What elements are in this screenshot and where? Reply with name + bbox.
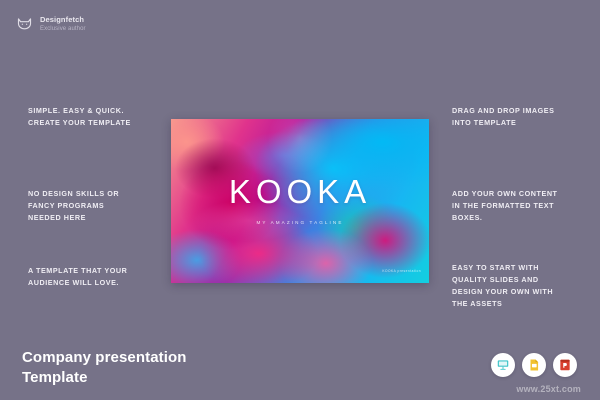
feature-drag-and-drop: DRAG AND DROP IMAGES INTO TEMPLATE: [452, 105, 554, 129]
watermark: www.25xt.com: [516, 384, 581, 394]
slide-preview[interactable]: KOOKA MY AMAZING TAGLINE KOOKA presentat…: [171, 119, 429, 283]
slide-canvas: KOOKA MY AMAZING TAGLINE KOOKA presentat…: [171, 119, 429, 283]
format-badge-powerpoint[interactable]: [553, 353, 577, 377]
slide-subtitle: MY AMAZING TAGLINE: [171, 220, 429, 225]
brand-subtitle: Exclusive author: [40, 26, 86, 32]
format-badge-google-slides[interactable]: [522, 353, 546, 377]
cat-face-icon: [16, 15, 33, 32]
slide-corner-note: KOOKA presentation: [382, 269, 421, 273]
format-badges: [491, 353, 577, 377]
brand-badge[interactable]: Designfetch Exclusive author: [16, 15, 86, 32]
powerpoint-icon: [558, 358, 572, 372]
feature-no-design-skills: NO DESIGN SKILLS OR FANCY PROGRAMS NEEDE…: [28, 188, 119, 224]
format-badge-keynote[interactable]: [491, 353, 515, 377]
feature-add-your-content: ADD YOUR OWN CONTENT IN THE FORMATTED TE…: [452, 188, 558, 224]
google-slides-icon: [527, 358, 541, 372]
page-title: Company presentation Template: [22, 348, 187, 388]
brand-name: Designfetch: [40, 16, 86, 24]
feature-simple-easy-quick: SIMPLE. EASY & QUICK. CREATE YOUR TEMPLA…: [28, 105, 131, 129]
slide-title: KOOKA: [171, 175, 429, 208]
keynote-icon: [496, 358, 510, 372]
feature-audience-will-love: A TEMPLATE THAT YOUR AUDIENCE WILL LOVE.: [28, 265, 127, 289]
feature-easy-to-start: EASY TO START WITH QUALITY SLIDES AND DE…: [452, 262, 553, 310]
brand-text: Designfetch Exclusive author: [40, 16, 86, 32]
